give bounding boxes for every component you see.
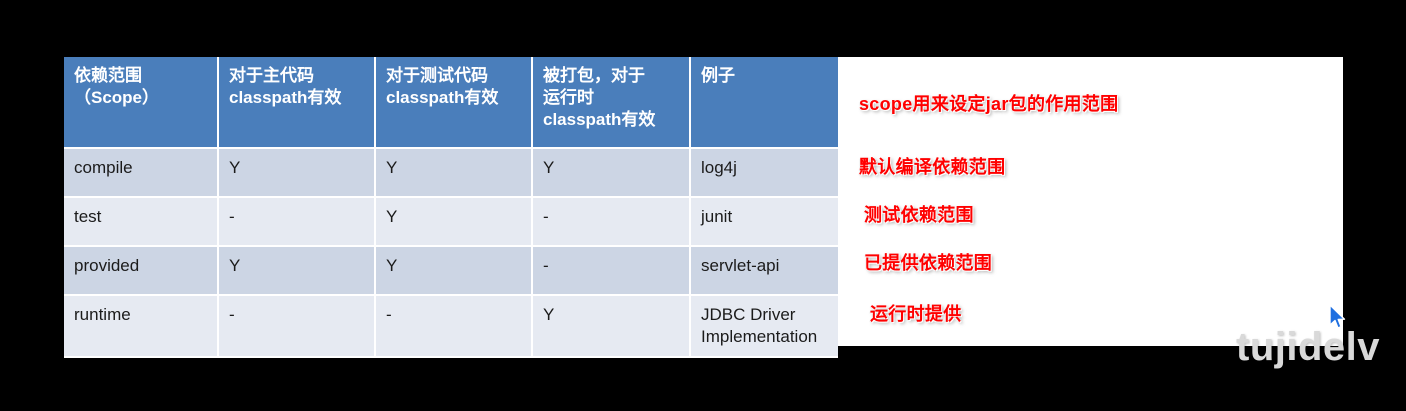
cell-test-classpath: Y bbox=[375, 197, 532, 246]
table-row: test-Y-junit bbox=[64, 197, 838, 246]
table-row: runtime--YJDBC DriverImplementation bbox=[64, 295, 838, 357]
annotation-scope-purpose: scope用来设定jar包的作用范围 bbox=[859, 90, 1118, 116]
column-header-line: 依赖范围 bbox=[74, 65, 207, 87]
cell-example-line: junit bbox=[701, 206, 828, 228]
cell-packaged-runtime: Y bbox=[532, 295, 690, 357]
cell-example-line: log4j bbox=[701, 157, 828, 179]
cell-scope: test bbox=[64, 197, 218, 246]
cell-example-line: servlet-api bbox=[701, 255, 828, 277]
cell-scope: compile bbox=[64, 148, 218, 197]
cell-main-classpath: - bbox=[218, 197, 375, 246]
cell-example-line: Implementation bbox=[701, 326, 828, 348]
slide-content-area: 依赖范围（Scope） 对于主代码classpath有效 对于测试代码class… bbox=[64, 57, 1343, 346]
column-header-line: 运行时 bbox=[543, 87, 679, 109]
column-header-line: 对于测试代码 bbox=[386, 65, 521, 87]
cell-example: JDBC DriverImplementation bbox=[690, 295, 838, 357]
annotation-test: 测试依赖范围 bbox=[864, 201, 974, 227]
cell-test-classpath: Y bbox=[375, 148, 532, 197]
annotation-runtime: 运行时提供 bbox=[870, 300, 962, 326]
column-header-line: 对于主代码 bbox=[229, 65, 364, 87]
column-header-packaged-runtime-classpath: 被打包，对于运行时classpath有效 bbox=[532, 57, 690, 148]
cell-example: servlet-api bbox=[690, 246, 838, 295]
table-row: compileYYYlog4j bbox=[64, 148, 838, 197]
column-header-line: classpath有效 bbox=[229, 87, 364, 109]
column-header-line: classpath有效 bbox=[386, 87, 521, 109]
table-header-row: 依赖范围（Scope） 对于主代码classpath有效 对于测试代码class… bbox=[64, 57, 838, 148]
column-header-main-classpath: 对于主代码classpath有效 bbox=[218, 57, 375, 148]
mouse-cursor-icon bbox=[1328, 304, 1348, 332]
cell-test-classpath: Y bbox=[375, 246, 532, 295]
cell-main-classpath: - bbox=[218, 295, 375, 357]
cell-example: log4j bbox=[690, 148, 838, 197]
cell-main-classpath: Y bbox=[218, 246, 375, 295]
cell-packaged-runtime: - bbox=[532, 197, 690, 246]
screen: 依赖范围（Scope） 对于主代码classpath有效 对于测试代码class… bbox=[0, 0, 1406, 411]
column-header-line: 被打包，对于 bbox=[543, 65, 679, 87]
column-header-test-classpath: 对于测试代码classpath有效 bbox=[375, 57, 532, 148]
table-row: providedYY-servlet-api bbox=[64, 246, 838, 295]
table-header: 依赖范围（Scope） 对于主代码classpath有效 对于测试代码class… bbox=[64, 57, 838, 148]
cell-scope: runtime bbox=[64, 295, 218, 357]
column-header-line: classpath有效 bbox=[543, 109, 679, 131]
annotation-compile: 默认编译依赖范围 bbox=[859, 153, 1005, 179]
column-header-scope: 依赖范围（Scope） bbox=[64, 57, 218, 148]
table-body: compileYYYlog4jtest-Y-junitprovidedYY-se… bbox=[64, 148, 838, 357]
cell-packaged-runtime: Y bbox=[532, 148, 690, 197]
column-header-example: 例子 bbox=[690, 57, 838, 148]
dependency-scope-table: 依赖范围（Scope） 对于主代码classpath有效 对于测试代码class… bbox=[64, 57, 838, 358]
cell-test-classpath: - bbox=[375, 295, 532, 357]
cell-main-classpath: Y bbox=[218, 148, 375, 197]
cell-example: junit bbox=[690, 197, 838, 246]
cell-scope: provided bbox=[64, 246, 218, 295]
column-header-line: 例子 bbox=[701, 65, 828, 87]
cell-example-line: JDBC Driver bbox=[701, 304, 828, 326]
column-header-line: （Scope） bbox=[74, 87, 207, 109]
watermark: tujidelv bbox=[1236, 325, 1380, 370]
annotation-provided: 已提供依赖范围 bbox=[864, 249, 992, 275]
cell-packaged-runtime: - bbox=[532, 246, 690, 295]
